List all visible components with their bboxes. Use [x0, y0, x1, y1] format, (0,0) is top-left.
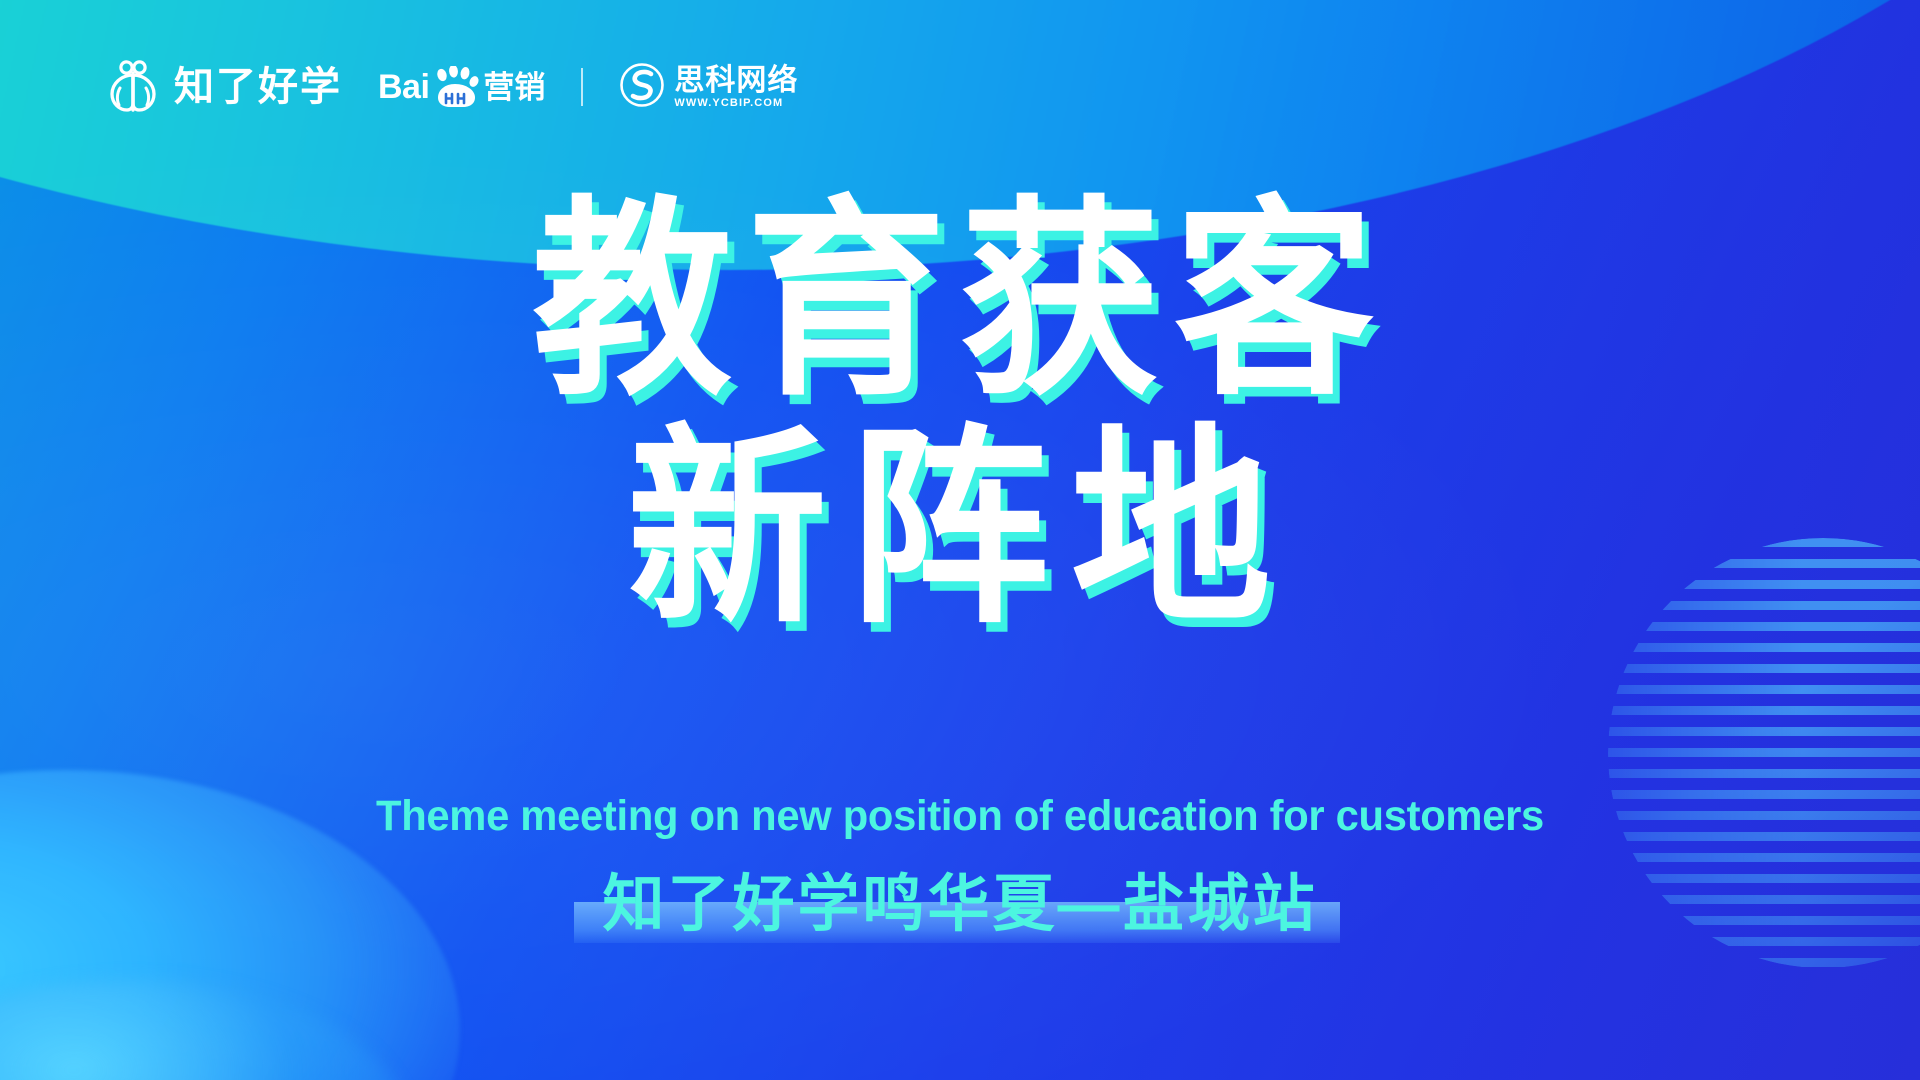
headline-line-1: 教育获客 [0, 190, 1920, 415]
subtitle-chinese: 知了好学鸣华夏—盐城站 [592, 870, 1327, 939]
logo-baidu-marketing[interactable]: Bai 营销 [378, 66, 545, 108]
logo-sike-network[interactable]: 思科网络 WWW.YCBIP.COM [619, 62, 798, 113]
logo-zhiliao-haoxue[interactable]: 知了好学 [104, 60, 342, 114]
baidu-latin-text: Bai [378, 70, 429, 104]
sike-website-url: WWW.YCBIP.COM [674, 98, 798, 109]
headline-block: 教育获客 新阵地 [0, 196, 1920, 636]
cicada-logo-icon [104, 60, 162, 114]
subtitle-chinese-wrapper: 知了好学鸣华夏—盐城站 [0, 870, 1920, 939]
sike-text-block: 思科网络 WWW.YCBIP.COM [674, 66, 798, 109]
baidu-marketing-label: 营销 [483, 72, 545, 103]
baidu-paw-icon [431, 66, 480, 108]
subtitle-english: Theme meeting on new position of educati… [29, 795, 1891, 838]
sike-network-label: 思科网络 [674, 66, 798, 96]
logo-bar: 知了好学 Bai 营销 [104, 60, 798, 114]
logo-divider [581, 68, 583, 106]
sike-swirl-icon [619, 62, 665, 113]
headline-line-2: 新阵地 [0, 418, 1920, 643]
subtitle-chinese-text: 知了好学鸣华夏—盐城站 [602, 870, 1317, 939]
brand-name-zhiliao: 知了好学 [174, 67, 342, 107]
event-banner: 知了好学 Bai 营销 [0, 0, 1920, 1080]
